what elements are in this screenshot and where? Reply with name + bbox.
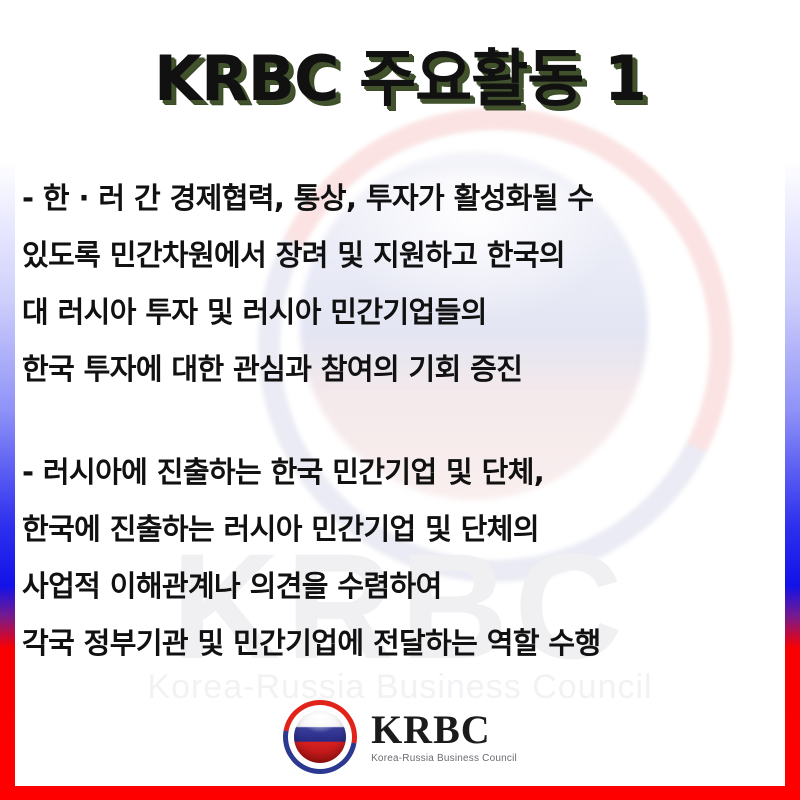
paragraph-2-line-2: 한국에 진출하는 러시아 민간기업 및 단체의 — [22, 501, 778, 558]
paragraph-1: - 한 · 러 간 경제협력, 통상, 투자가 활성화될 수 있도록 민간차원에… — [22, 170, 778, 398]
paragraph-2-line-3: 사업적 이해관계나 의견을 수렴하여 — [22, 558, 778, 615]
page-title: KRBC 주요활동 1 — [0, 46, 800, 111]
krbc-logo-text: KRBC Korea-Russia Business Council — [371, 710, 517, 764]
krbc-logo-wordmark: KRBC — [371, 710, 491, 750]
left-flag-gradient-bar — [0, 160, 15, 786]
paragraph-1-line-2: 있도록 민간차원에서 장려 및 지원하고 한국의 — [22, 227, 778, 284]
paragraph-2: - 러시아에 진출하는 한국 민간기업 및 단체, 한국에 진출하는 러시아 민… — [22, 444, 778, 672]
paragraph-1-line-3: 대 러시아 투자 및 러시아 민간기업들의 — [22, 284, 778, 341]
paragraph-1-line-1: - 한 · 러 간 경제협력, 통상, 투자가 활성화될 수 — [22, 170, 778, 227]
paragraph-1-line-4: 한국 투자에 대한 관심과 참여의 기회 증진 — [22, 341, 778, 398]
body-content: - 한 · 러 간 경제협력, 통상, 투자가 활성화될 수 있도록 민간차원에… — [22, 170, 778, 686]
right-flag-gradient-bar — [785, 160, 800, 786]
ring-arc-blue-icon — [269, 685, 372, 788]
page-title-text: KRBC 주요활동 1 — [154, 46, 646, 111]
krbc-globe-icon — [283, 700, 357, 774]
paragraph-2-line-1: - 러시아에 진출하는 한국 민간기업 및 단체, — [22, 444, 778, 501]
paragraph-2-line-4: 각국 정부기관 및 민간기업에 전달하는 역할 수행 — [22, 615, 778, 672]
slide-canvas: KRBC Korea-Russia Business Council KRBC … — [0, 0, 800, 800]
krbc-logo: KRBC Korea-Russia Business Council — [0, 700, 800, 774]
krbc-logo-subtitle: Korea-Russia Business Council — [371, 754, 517, 764]
bottom-red-bar — [0, 786, 800, 800]
